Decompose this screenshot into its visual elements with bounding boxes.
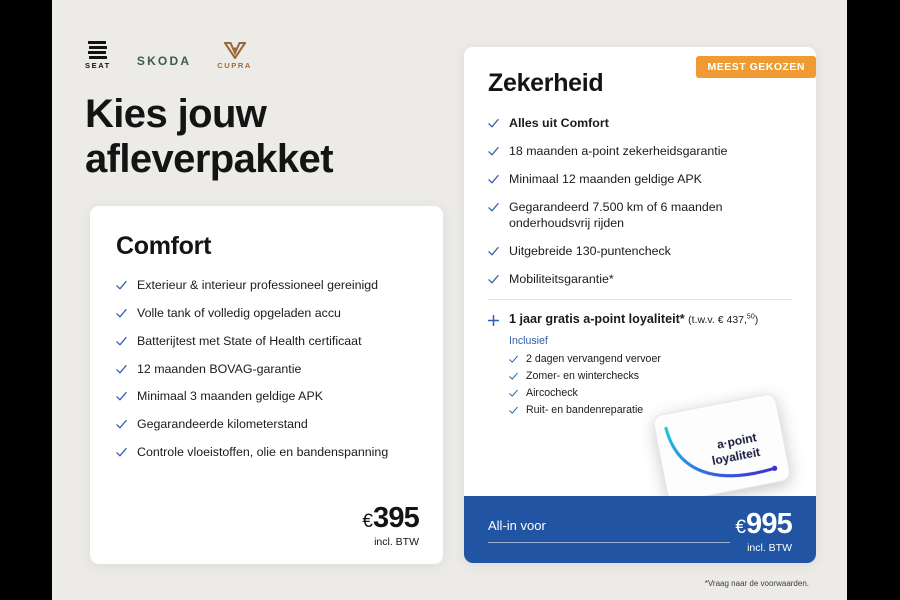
list-item-label: Alles uit Comfort — [509, 115, 792, 132]
check-icon — [509, 389, 518, 398]
comfort-package-card[interactable]: Comfort Exterieur & interieur profession… — [90, 206, 443, 564]
footnote-text: *Vraag naar de voorwaarden. — [705, 579, 809, 588]
list-item-label: Exterieur & interieur professioneel gere… — [137, 277, 417, 294]
check-icon — [116, 336, 127, 347]
check-icon — [488, 118, 499, 129]
zekerheid-divider — [488, 299, 792, 300]
check-icon — [116, 391, 127, 402]
check-icon — [116, 280, 127, 291]
page-title-line-2: afleverpakket — [85, 137, 333, 182]
list-item-label: Aircocheck — [526, 387, 578, 399]
list-item: Gegarandeerde kilometerstand — [116, 416, 417, 433]
list-item: Controle vloeistoffen, olie en bandenspa… — [116, 444, 417, 461]
list-item: 2 dagen vervangend vervoer — [509, 353, 792, 365]
loyalty-title: 1 jaar gratis a-point loyaliteit* — [509, 312, 685, 326]
list-item-label: Uitgebreide 130-puntencheck — [509, 243, 792, 260]
page-canvas: SEAT SKODA CUPRA Kies jouw afleverpakket — [52, 0, 847, 600]
list-item: Minimaal 12 maanden geldige APK — [488, 171, 792, 188]
list-item: Exterieur & interieur professioneel gere… — [116, 277, 417, 294]
cupra-logo: CUPRA — [217, 42, 252, 70]
loyalty-row: 1 jaar gratis a-point loyaliteit* (t.w.v… — [488, 312, 792, 326]
cupra-wordmark: CUPRA — [217, 61, 252, 70]
comfort-price-currency: € — [362, 511, 373, 532]
check-icon — [488, 274, 499, 285]
loyalty-value: (t.w.v. € 437,50) — [688, 314, 758, 326]
list-item-label: Minimaal 3 maanden geldige APK — [137, 388, 417, 405]
zekerheid-price-note: incl. BTW — [735, 542, 792, 554]
list-item-label: Controle vloeistoffen, olie en bandenspa… — [137, 444, 417, 461]
plus-icon — [488, 315, 499, 326]
loyalty-value-prefix: (t.w.v. € 437, — [688, 314, 747, 326]
list-item: Zomer- en winterchecks — [509, 370, 792, 382]
price-bar-rule — [488, 542, 730, 543]
check-icon — [116, 364, 127, 375]
list-item: 18 maanden a-point zekerheidsgarantie — [488, 143, 792, 160]
list-item-label: 2 dagen vervangend vervoer — [526, 353, 661, 365]
zekerheid-feature-list: Alles uit Comfort18 maanden a-point zeke… — [488, 115, 792, 288]
zekerheid-price: €995 — [735, 510, 792, 539]
check-icon — [488, 246, 499, 257]
loyalty-value-suffix: ) — [755, 314, 759, 326]
zekerheid-price-amount: 995 — [746, 508, 792, 540]
list-item-label: 12 maanden BOVAG-garantie — [137, 361, 417, 378]
comfort-price-note: incl. BTW — [362, 536, 419, 548]
zekerheid-price-bar: All-in voor €995 incl. BTW — [464, 496, 816, 563]
list-item-label: Volle tank of volledig opgeladen accu — [137, 305, 417, 322]
comfort-price-block: €395 incl. BTW — [362, 504, 419, 548]
seat-mark-icon — [88, 40, 107, 59]
screenshot-stage: SEAT SKODA CUPRA Kies jouw afleverpakket — [0, 0, 900, 600]
zekerheid-package-card[interactable]: MEEST GEKOZEN Zekerheid Alles uit Comfor… — [464, 47, 816, 563]
check-icon — [509, 406, 518, 415]
zekerheid-price-block: €995 incl. BTW — [735, 510, 792, 554]
check-icon — [509, 355, 518, 364]
list-item: Gegarandeerd 7.500 km of 6 maanden onder… — [488, 199, 792, 233]
check-icon — [488, 146, 499, 157]
list-item: Volle tank of volledig opgeladen accu — [116, 305, 417, 322]
check-icon — [116, 447, 127, 458]
seat-logo: SEAT — [85, 40, 111, 70]
list-item: Uitgebreide 130-puntencheck — [488, 243, 792, 260]
list-item-label: Minimaal 12 maanden geldige APK — [509, 171, 792, 188]
list-item: Mobiliteitsgarantie* — [488, 271, 792, 288]
list-item-label: 18 maanden a-point zekerheidsgarantie — [509, 143, 792, 160]
seat-wordmark: SEAT — [85, 61, 111, 70]
page-title: Kies jouw afleverpakket — [85, 92, 333, 182]
check-icon — [116, 419, 127, 430]
comfort-title: Comfort — [116, 232, 417, 261]
list-item-label: Gegarandeerd 7.500 km of 6 maanden onder… — [509, 199, 792, 233]
list-item: 12 maanden BOVAG-garantie — [116, 361, 417, 378]
most-chosen-badge: MEEST GEKOZEN — [696, 56, 816, 78]
cupra-triangle-icon — [224, 42, 246, 59]
list-item-label: Zomer- en winterchecks — [526, 370, 639, 382]
check-icon — [488, 202, 499, 213]
check-icon — [116, 308, 127, 319]
check-icon — [488, 174, 499, 185]
list-item-label: Mobiliteitsgarantie* — [509, 271, 792, 288]
list-item: Alles uit Comfort — [488, 115, 792, 132]
list-item-label: Batterijtest met State of Health certifi… — [137, 333, 417, 350]
list-item-label: Ruit- en bandenreparatie — [526, 404, 643, 416]
list-item: Minimaal 3 maanden geldige APK — [116, 388, 417, 405]
comfort-feature-list: Exterieur & interieur professioneel gere… — [116, 277, 417, 461]
comfort-price: €395 — [362, 504, 419, 533]
loyalty-value-cents: 50 — [747, 314, 755, 321]
list-item-label: Gegarandeerde kilometerstand — [137, 416, 417, 433]
all-in-label: All-in voor — [488, 518, 546, 533]
skoda-wordmark: SKODA — [137, 54, 191, 68]
zekerheid-price-currency: € — [735, 517, 746, 538]
brand-logo-row: SEAT SKODA CUPRA — [85, 40, 252, 70]
check-icon — [509, 372, 518, 381]
list-item: Batterijtest met State of Health certifi… — [116, 333, 417, 350]
comfort-price-amount: 395 — [373, 502, 419, 534]
skoda-logo: SKODA — [137, 52, 191, 70]
page-title-line-1: Kies jouw — [85, 92, 266, 136]
inclusief-label: Inclusief — [509, 335, 792, 347]
